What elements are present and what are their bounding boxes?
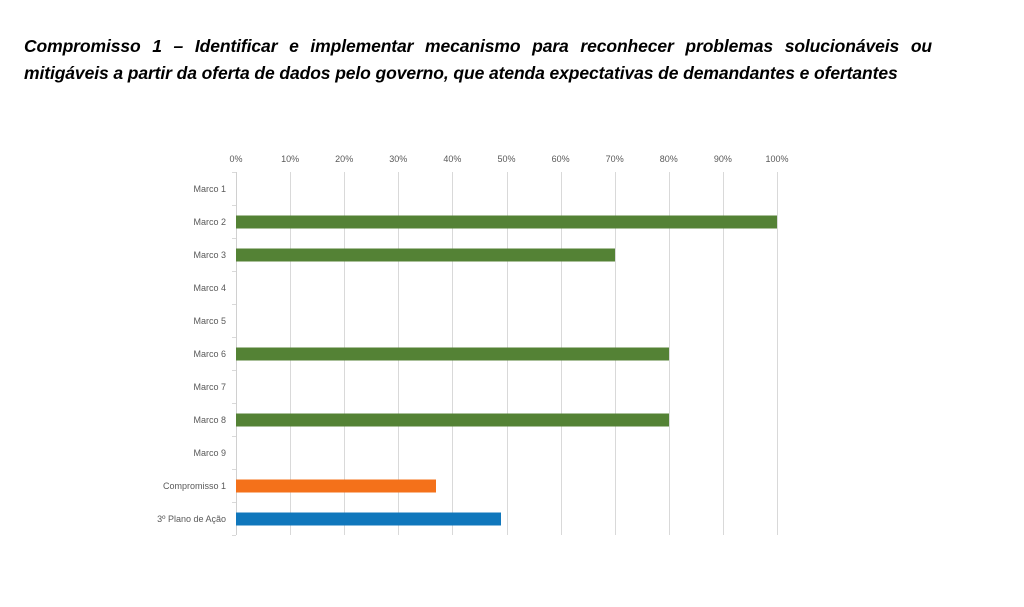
y-tick-label: Marco 6 [193, 349, 226, 359]
x-tick-label: 10% [281, 154, 299, 164]
x-tick-label: 100% [765, 154, 788, 164]
y-axis-category-labels: Marco 1Marco 2Marco 3Marco 4Marco 5Marco… [120, 172, 232, 535]
page-title: Compromisso 1 – Identificar e implementa… [24, 33, 932, 87]
bars-layer [236, 172, 777, 535]
bar-marco-3[interactable] [236, 248, 615, 261]
x-tick-label: 50% [497, 154, 515, 164]
x-tick-label: 90% [714, 154, 732, 164]
y-tick-mark [232, 535, 236, 536]
y-tick-label: Marco 7 [193, 382, 226, 392]
x-tick-label: 30% [389, 154, 407, 164]
x-tick-label: 20% [335, 154, 353, 164]
y-tick-label: Marco 4 [193, 283, 226, 293]
x-tick-label: 80% [660, 154, 678, 164]
bar-compromisso-1[interactable] [236, 479, 436, 492]
bar-3-plano-de-a-o[interactable] [236, 512, 501, 525]
x-tick-label: 0% [229, 154, 242, 164]
x-tick-label: 70% [606, 154, 624, 164]
bar-marco-6[interactable] [236, 347, 669, 360]
gridline-100% [777, 172, 778, 535]
y-tick-label: Marco 8 [193, 415, 226, 425]
bar-marco-2[interactable] [236, 215, 777, 228]
y-tick-label: Marco 3 [193, 250, 226, 260]
bar-marco-8[interactable] [236, 413, 669, 426]
x-tick-label: 40% [443, 154, 461, 164]
y-tick-label: Marco 9 [193, 448, 226, 458]
y-tick-label: Marco 5 [193, 316, 226, 326]
x-tick-label: 60% [552, 154, 570, 164]
y-tick-label: Compromisso 1 [163, 481, 226, 491]
bar-chart: 0%10%20%30%40%50%60%70%80%90%100% Marco … [120, 140, 820, 550]
x-axis-tick-labels: 0%10%20%30%40%50%60%70%80%90%100% [236, 154, 777, 170]
plot-area [236, 172, 777, 535]
y-tick-label: Marco 1 [193, 184, 226, 194]
y-tick-label: 3º Plano de Ação [157, 514, 226, 524]
y-tick-label: Marco 2 [193, 217, 226, 227]
